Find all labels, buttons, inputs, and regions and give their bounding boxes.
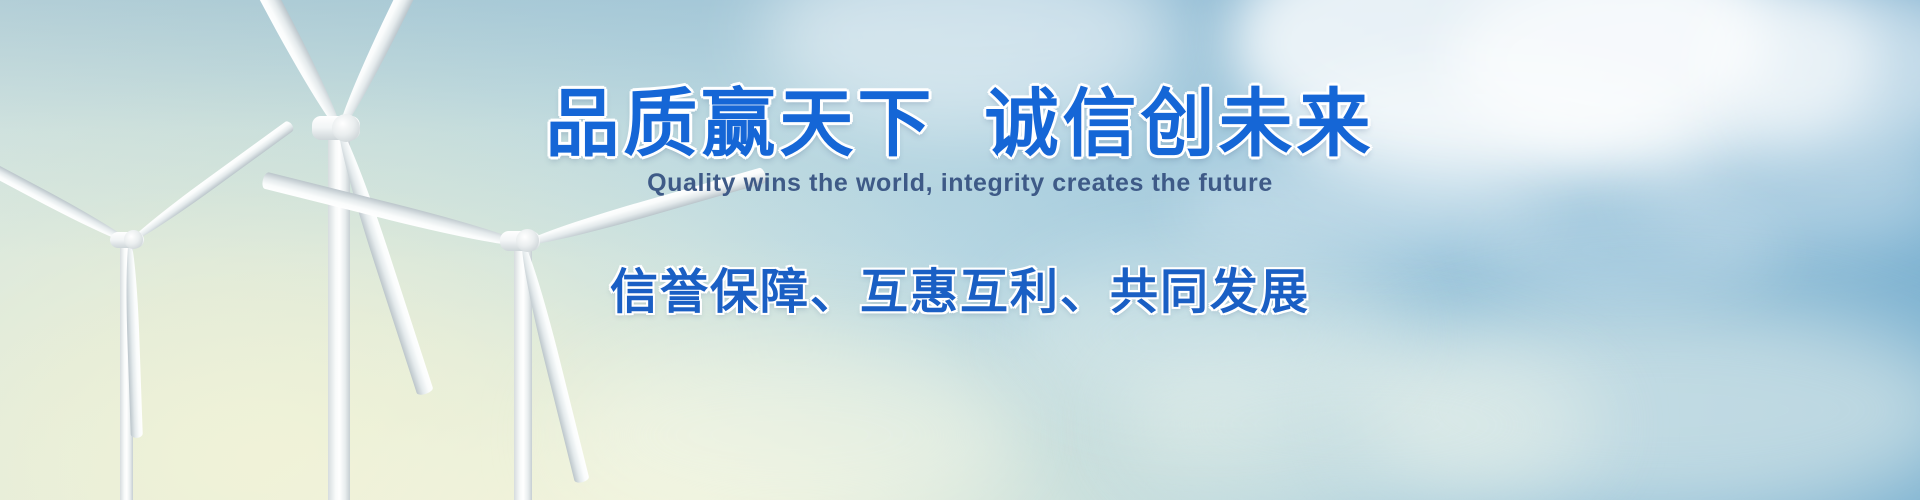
banner-tagline: 信誉保障、互惠互利、共同发展 [0,252,1920,322]
promo-banner: 品质赢天下 诚信创未来 Quality wins the world, inte… [0,0,1920,500]
banner-subtitle-english: Quality wins the world, integrity create… [0,169,1920,198]
banner-headline: 品质赢天下 诚信创未来 [0,64,1920,171]
banner-text-layer: 品质赢天下 诚信创未来 Quality wins the world, inte… [0,0,1920,500]
